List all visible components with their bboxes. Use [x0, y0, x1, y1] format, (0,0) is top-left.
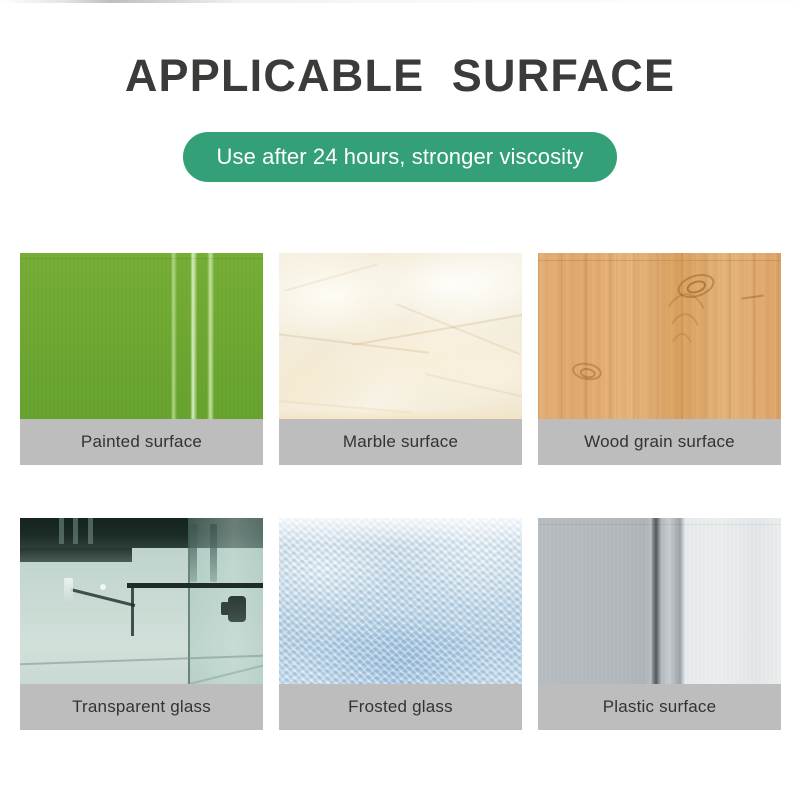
transparent-glass-image	[20, 518, 263, 684]
glass-door-handle	[228, 596, 246, 622]
glass-door-edge	[131, 583, 134, 636]
surface-card-wood-grain[interactable]: Wood grain surface	[538, 253, 781, 465]
wood-top-edge	[538, 260, 781, 261]
frosted-glass-image	[279, 518, 522, 684]
surface-card-marble[interactable]: Marble surface	[279, 253, 522, 465]
banner-container: Use after 24 hours, stronger viscosity	[0, 132, 800, 182]
glass-panel-right	[188, 518, 263, 684]
plastic-surface-swatch	[538, 518, 781, 684]
surface-card-plastic[interactable]: Plastic surface	[538, 518, 781, 730]
plastic-top-edge	[538, 524, 781, 525]
surface-card-painted[interactable]: Painted surface	[20, 253, 263, 465]
wood-grain-surface-image	[538, 253, 781, 419]
transparent-glass-swatch	[20, 518, 263, 684]
glass-slat	[88, 518, 93, 544]
surface-caption-frosted-glass: Frosted glass	[279, 684, 522, 730]
glass-ceiling-band-secondary	[20, 548, 132, 562]
marble-surface-swatch	[279, 253, 522, 419]
page-title: APPLICABLE SURFACE	[0, 50, 800, 102]
glass-vertical-post	[210, 524, 217, 582]
glass-bollard	[64, 578, 73, 604]
surface-card-frosted-glass[interactable]: Frosted glass	[279, 518, 522, 730]
wood-grain-surface-swatch	[538, 253, 781, 419]
applicable-surface-infographic: APPLICABLE SURFACE Use after 24 hours, s…	[0, 0, 800, 800]
marble-vein	[352, 311, 522, 347]
surface-caption-wood-grain: Wood grain surface	[538, 419, 781, 465]
glass-vertical-post	[190, 524, 197, 582]
marble-bottom-band	[279, 409, 522, 419]
surface-caption-transparent-glass: Transparent glass	[20, 684, 263, 730]
frosted-top-haze	[279, 518, 522, 545]
wood-knot	[571, 360, 603, 382]
marble-vein	[395, 303, 519, 354]
top-edge-artifact	[0, 0, 800, 3]
painted-surface-swatch	[20, 253, 263, 419]
glass-horizontal-rail	[127, 583, 263, 588]
surface-caption-plastic: Plastic surface	[538, 684, 781, 730]
glass-highlight-dot	[100, 584, 106, 590]
wood-grain-mark	[742, 295, 765, 306]
glass-slat	[59, 518, 64, 544]
plastic-surface-image	[538, 518, 781, 684]
glass-door-edge	[70, 588, 134, 607]
marble-vein	[284, 263, 378, 291]
surface-caption-painted: Painted surface	[20, 419, 263, 465]
plastic-grain-overlay	[538, 518, 781, 684]
painted-top-edge	[20, 258, 263, 259]
marble-surface-image	[279, 253, 522, 419]
painted-surface-image	[20, 253, 263, 419]
frosted-glass-swatch	[279, 518, 522, 684]
surface-caption-marble: Marble surface	[279, 419, 522, 465]
banner-label: Use after 24 hours, stronger viscosity	[217, 144, 584, 170]
glass-slat	[73, 518, 78, 544]
surface-card-transparent-glass[interactable]: Transparent glass	[20, 518, 263, 730]
surface-grid: Painted surface Marble surface	[20, 253, 780, 730]
viscosity-banner: Use after 24 hours, stronger viscosity	[183, 132, 618, 182]
marble-vein	[425, 373, 522, 399]
